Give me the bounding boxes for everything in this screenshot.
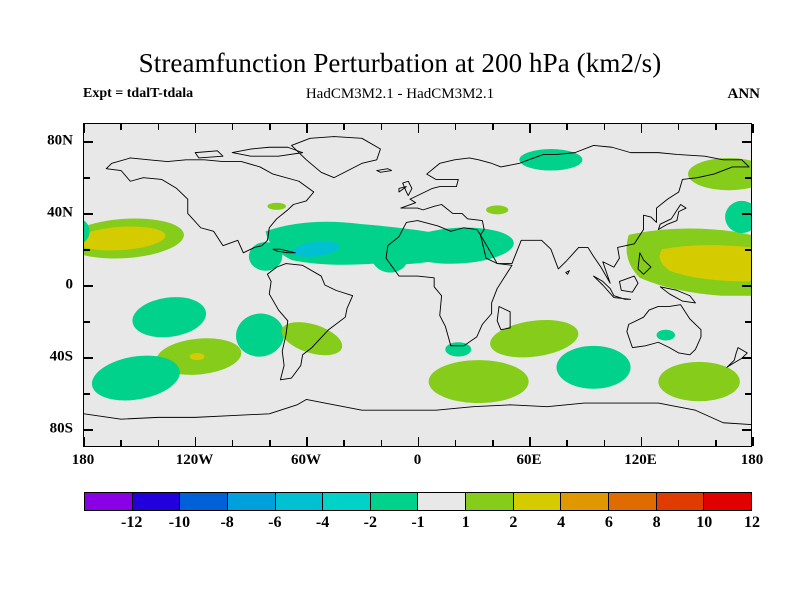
colorbar-tick-4: 4 xyxy=(557,514,565,532)
ytick-minor xyxy=(84,429,93,430)
ytick-minor-right xyxy=(745,249,751,250)
colorbar-tick--1: -1 xyxy=(411,514,424,532)
ytick-minor xyxy=(84,249,90,250)
ytick-minor xyxy=(84,357,93,358)
central-america-negative xyxy=(249,242,282,271)
y-axis-label-80S: 80S xyxy=(25,421,73,438)
coastline xyxy=(627,305,701,355)
colorbar-tick--6: -6 xyxy=(268,514,281,532)
colorbar-band-6[interactable] xyxy=(371,493,419,510)
xtick-minor xyxy=(678,440,679,446)
xtick-minor-top xyxy=(120,124,121,130)
colorbar-band-4[interactable] xyxy=(276,493,324,510)
xtick-minor xyxy=(343,440,344,446)
xtick-minor-top xyxy=(604,124,605,130)
xtick-minor-top xyxy=(641,124,642,133)
southern-ocean-positive-a xyxy=(429,360,529,403)
north-pacific-negative xyxy=(725,201,751,233)
ytick-minor xyxy=(84,213,93,214)
caspian-positive xyxy=(486,205,508,214)
xtick-minor xyxy=(306,437,307,446)
australia-negative xyxy=(657,330,676,341)
ytick-minor-right xyxy=(742,213,751,214)
colorbar-tick--2: -2 xyxy=(364,514,377,532)
xtick-minor-top xyxy=(83,124,84,133)
coastline xyxy=(267,264,352,380)
colorbar-band-11[interactable] xyxy=(609,493,657,510)
page-title: Streamfunction Perturbation at 200 hPa (… xyxy=(0,48,800,79)
colorbar-band-9[interactable] xyxy=(514,493,562,510)
xtick-minor-top xyxy=(418,124,419,133)
colorbar-tick-10: 10 xyxy=(696,514,712,532)
xtick-minor xyxy=(120,440,121,446)
xtick-minor xyxy=(158,440,159,446)
xtick-minor-top xyxy=(752,124,753,133)
xtick-minor xyxy=(492,440,493,446)
kamchatka-positive xyxy=(688,158,751,190)
south-pacific-negative-a xyxy=(130,293,209,342)
south-africa-negative xyxy=(445,342,471,356)
colorbar-band-7[interactable] xyxy=(418,493,466,510)
coastline xyxy=(232,147,302,156)
y-axis-label-80N: 80N xyxy=(25,133,73,150)
xtick-minor-top xyxy=(455,124,456,130)
colorbar-tick-2: 2 xyxy=(509,514,517,532)
baffin-positive xyxy=(267,203,286,210)
coastline xyxy=(497,306,510,329)
south-pacific-positive-core xyxy=(190,353,205,360)
colorbar-band-2[interactable] xyxy=(180,493,228,510)
colorbar-tick--12: -12 xyxy=(121,514,142,532)
colorbar-tick--4: -4 xyxy=(316,514,329,532)
ytick-minor-right xyxy=(745,393,751,394)
colorbar-band-5[interactable] xyxy=(323,493,371,510)
xtick-minor xyxy=(381,440,382,446)
ytick-minor-right xyxy=(742,141,751,142)
map-clip xyxy=(84,124,751,446)
xtick-minor xyxy=(529,437,530,446)
xtick-minor xyxy=(715,440,716,446)
map-plot-area xyxy=(83,123,752,447)
x-axis-label-180: 180 xyxy=(72,452,95,469)
xtick-minor xyxy=(604,440,605,446)
colorbar-band-8[interactable] xyxy=(466,493,514,510)
ytick-minor xyxy=(84,393,90,394)
x-axis-label-0: 0 xyxy=(414,452,422,469)
xtick-minor-top xyxy=(678,124,679,130)
model-comparison-label: HadCM3M2.1 - HadCM3M2.1 xyxy=(0,86,800,103)
colorbar-tick-6: 6 xyxy=(605,514,613,532)
south-indian-negative xyxy=(556,346,630,389)
xtick-minor-top xyxy=(306,124,307,133)
xtick-minor-top xyxy=(195,124,196,133)
anomaly-shading-layer xyxy=(84,149,751,407)
xtick-minor-top xyxy=(232,124,233,130)
xtick-minor xyxy=(83,437,84,446)
x-axis-label-180: 180 xyxy=(741,452,764,469)
colorbar-tick-8: 8 xyxy=(653,514,661,532)
x-axis-label-60E: 60E xyxy=(516,452,541,469)
xtick-minor xyxy=(232,440,233,446)
coastline xyxy=(619,276,638,292)
colorbar-band-0[interactable] xyxy=(85,493,133,510)
xtick-minor xyxy=(418,437,419,446)
world-map xyxy=(84,124,751,446)
ytick-minor xyxy=(84,177,90,178)
xtick-minor-top xyxy=(269,124,270,130)
xtick-minor-top xyxy=(492,124,493,130)
colorbar-tick--8: -8 xyxy=(220,514,233,532)
coastline xyxy=(658,205,686,230)
colorbar[interactable] xyxy=(84,492,752,511)
xtick-minor xyxy=(269,440,270,446)
ytick-minor xyxy=(84,285,93,286)
xtick-minor xyxy=(455,440,456,446)
xtick-minor-top xyxy=(715,124,716,130)
colorbar-band-12[interactable] xyxy=(657,493,705,510)
colorbar-tick--10: -10 xyxy=(169,514,190,532)
x-axis-label-120E: 120E xyxy=(624,452,657,469)
ytick-minor-right xyxy=(745,177,751,178)
coastline xyxy=(84,399,751,424)
colorbar-band-13[interactable] xyxy=(704,493,751,510)
xtick-minor xyxy=(195,437,196,446)
y-axis-label-0: 0 xyxy=(25,277,73,294)
y-axis-label-40N: 40N xyxy=(25,205,73,222)
xtick-minor-top xyxy=(343,124,344,130)
colorbar-band-1[interactable] xyxy=(133,493,181,510)
colorbar-band-3[interactable] xyxy=(228,493,276,510)
ytick-minor xyxy=(84,321,90,322)
southern-ocean-positive-b xyxy=(658,362,740,401)
ytick-minor-right xyxy=(742,285,751,286)
figure-canvas: Streamfunction Perturbation at 200 hPa (… xyxy=(0,0,800,600)
coastline xyxy=(566,271,570,275)
colorbar-tick-1: 1 xyxy=(462,514,470,532)
colorbar-band-10[interactable] xyxy=(561,493,609,510)
season-label: ANN xyxy=(728,86,761,103)
colorbar-tick-12: 12 xyxy=(744,514,760,532)
xtick-minor xyxy=(641,437,642,446)
xtick-minor-top xyxy=(566,124,567,130)
xtick-minor-top xyxy=(158,124,159,130)
coastline xyxy=(377,169,392,173)
xtick-minor xyxy=(566,440,567,446)
ytick-minor-right xyxy=(742,429,751,430)
xtick-minor xyxy=(752,437,753,446)
coastline xyxy=(292,137,381,178)
ytick-minor-right xyxy=(742,357,751,358)
xtick-minor-top xyxy=(381,124,382,130)
y-axis-label-40S: 40S xyxy=(25,349,73,366)
x-axis-label-120W: 120W xyxy=(176,452,214,469)
coastline xyxy=(195,151,223,158)
ytick-minor xyxy=(84,141,93,142)
x-axis-label-60W: 60W xyxy=(291,452,321,469)
ytick-minor-right xyxy=(745,321,751,322)
xtick-minor-top xyxy=(529,124,530,133)
